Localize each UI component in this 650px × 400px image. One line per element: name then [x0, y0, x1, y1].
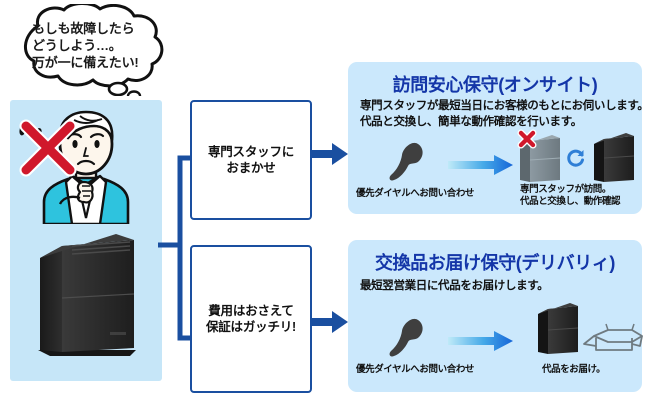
choice-cost-line-1: 費用はおさえて [206, 303, 296, 319]
service-panel-delivery: 交換品お届け保守(デリバリィ) 最短翌営業日に代品をお届けします。 [348, 240, 642, 392]
black-server-icon [594, 133, 634, 182]
thought-bubble: もしも故障したら どうしよう…。 万が一に備えたい! [8, 4, 180, 96]
onsite-step1-caption: 優先ダイヤルへお問い合わせ [356, 188, 474, 200]
service-panel-onsite: 訪問安心保守(オンサイト) 専門スタッフが最短当日にお客様のもとにお伺いします。… [348, 62, 642, 214]
delivery-icons [534, 300, 644, 362]
thought-line-2: どうしよう…。 [32, 37, 172, 54]
onsite-step2-line-2: 代品と交換し、動作確認 [520, 196, 620, 208]
choice-cost-line-2: 保証はガッチリ! [206, 319, 296, 335]
thought-line-3: 万が一に備えたい! [32, 54, 172, 71]
thought-line-1: もしも故障したら [32, 20, 172, 37]
thought-bubble-text: もしも故障したら どうしよう…。 万が一に備えたい! [32, 20, 172, 71]
black-nas-server-icon [32, 232, 142, 364]
choice-staff-line-2: おまかせ [208, 160, 294, 176]
red-x-mark-icon [12, 112, 84, 184]
gradient-right-arrow-icon [448, 330, 514, 352]
blue-right-arrow-icon [310, 308, 350, 336]
phone-handset-icon [388, 140, 430, 186]
onsite-step2-line-1: 専門スタッフが訪問。 [520, 184, 620, 196]
delivery-step2-caption: 代品をお届け。 [542, 364, 605, 376]
choice-staff-line-1: 専門スタッフに [208, 144, 294, 160]
blue-right-arrow-icon [310, 140, 350, 168]
onsite-step2-caption: 専門スタッフが訪問。 代品と交換し、動作確認 [520, 184, 620, 208]
swap-refresh-icon [566, 148, 586, 168]
black-server-icon [538, 303, 578, 354]
delivery-flow: 優先ダイヤルへお問い合わせ 代品をお届け。 [348, 240, 642, 392]
phone-handset-icon [388, 316, 430, 362]
delivery-step1-caption: 優先ダイヤルへお問い合わせ [356, 364, 474, 376]
choice-box-cost-label: 費用はおさえて 保証はガッチリ! [206, 303, 296, 336]
gradient-right-arrow-icon [448, 154, 514, 176]
diagram-canvas: もしも故障したら どうしよう…。 万が一に備えたい! [0, 0, 650, 400]
red-x-mark-icon [516, 128, 538, 150]
choice-box-cost[interactable]: 費用はおさえて 保証はガッチリ! [190, 245, 312, 393]
choice-box-staff-label: 専門スタッフに おまかせ [208, 144, 294, 177]
onsite-flow: 優先ダイヤルへお問い合わせ 専門スタッフが訪問。 代品と交換し、動作確認 [348, 62, 642, 214]
open-cardboard-box-icon [584, 324, 642, 350]
choice-box-staff[interactable]: 専門スタッフに おまかせ [190, 100, 312, 220]
problem-panel [10, 100, 162, 381]
